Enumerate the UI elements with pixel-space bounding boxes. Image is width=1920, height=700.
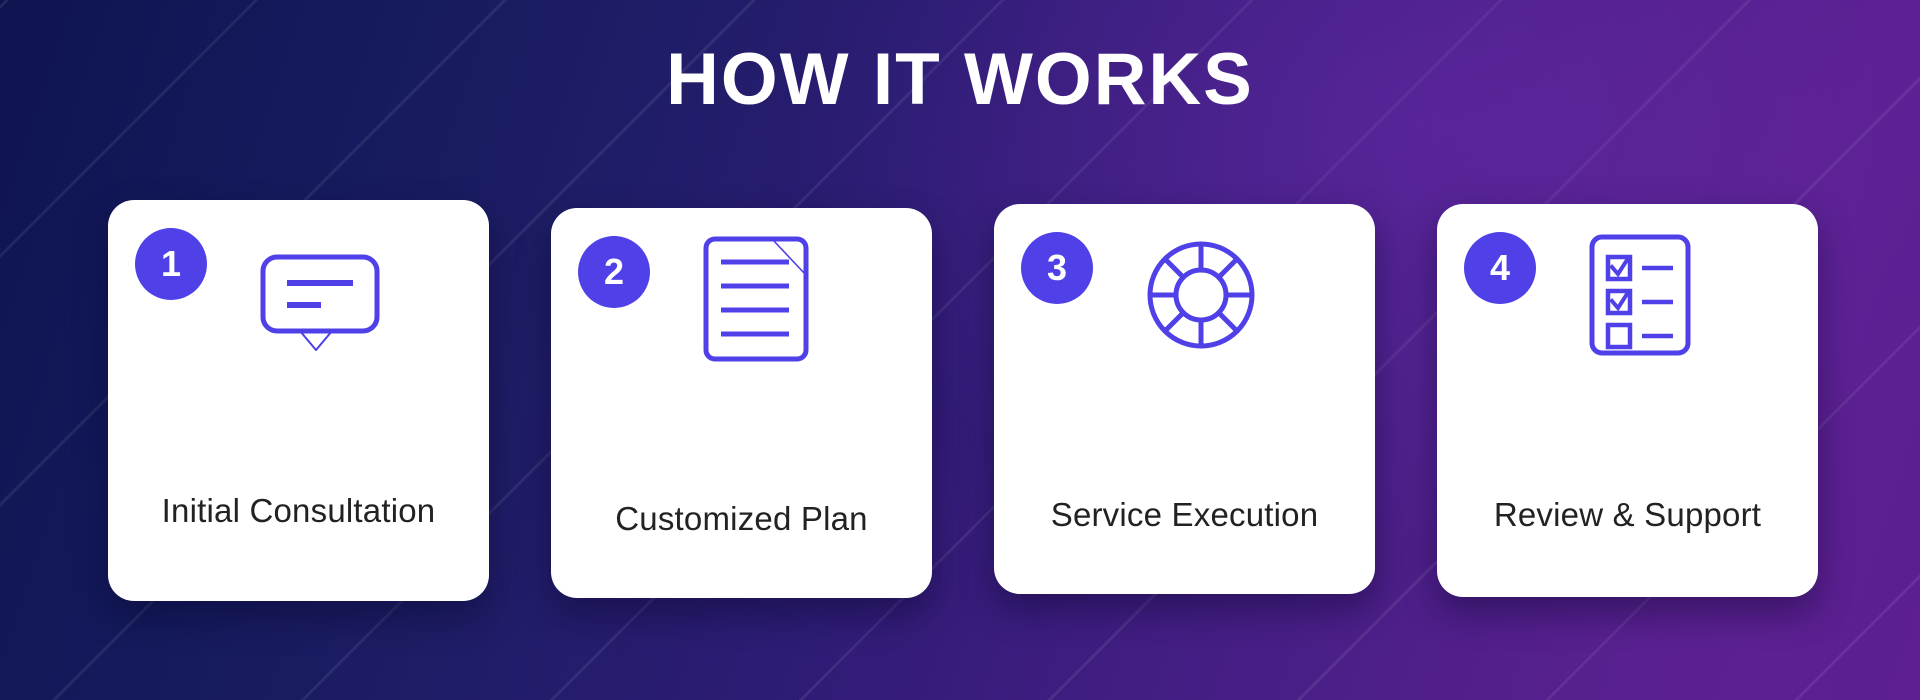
speech-bubble-icon	[258, 231, 382, 351]
page-title: HOW IT WORKS	[0, 42, 1920, 119]
lifebuoy-icon	[1144, 238, 1258, 352]
step-icon-4	[1587, 230, 1727, 360]
step-card-4[interactable]: 4	[1437, 204, 1818, 597]
steps-list: 1 Initial Consultation 2	[108, 200, 1820, 601]
checklist-icon	[1587, 232, 1693, 358]
step-icon-2	[701, 234, 841, 364]
step-card-3[interactable]: 3	[994, 204, 1375, 594]
step-card-2-header: 2	[551, 208, 932, 398]
step-card-3-header: 3	[994, 204, 1375, 394]
step-label-2: Customized Plan	[551, 500, 932, 538]
step-number-badge-1: 1	[135, 228, 207, 300]
step-card-1[interactable]: 1 Initial Consultation	[108, 200, 489, 601]
step-icon-1	[258, 226, 398, 356]
step-number-badge-2: 2	[578, 236, 650, 308]
step-card-4-header: 4	[1437, 204, 1818, 394]
step-label-3: Service Execution	[994, 496, 1375, 534]
step-number-badge-4: 4	[1464, 232, 1536, 304]
document-icon	[701, 234, 811, 364]
step-card-1-header: 1	[108, 200, 489, 390]
how-it-works-section: HOW IT WORKS 1 Initial Consulta	[0, 0, 1920, 700]
step-card-2[interactable]: 2 Customized Plan	[551, 208, 932, 598]
step-label-1: Initial Consultation	[108, 492, 489, 530]
step-icon-3	[1144, 230, 1284, 360]
step-number-badge-3: 3	[1021, 232, 1093, 304]
step-label-4: Review & Support	[1437, 496, 1818, 534]
